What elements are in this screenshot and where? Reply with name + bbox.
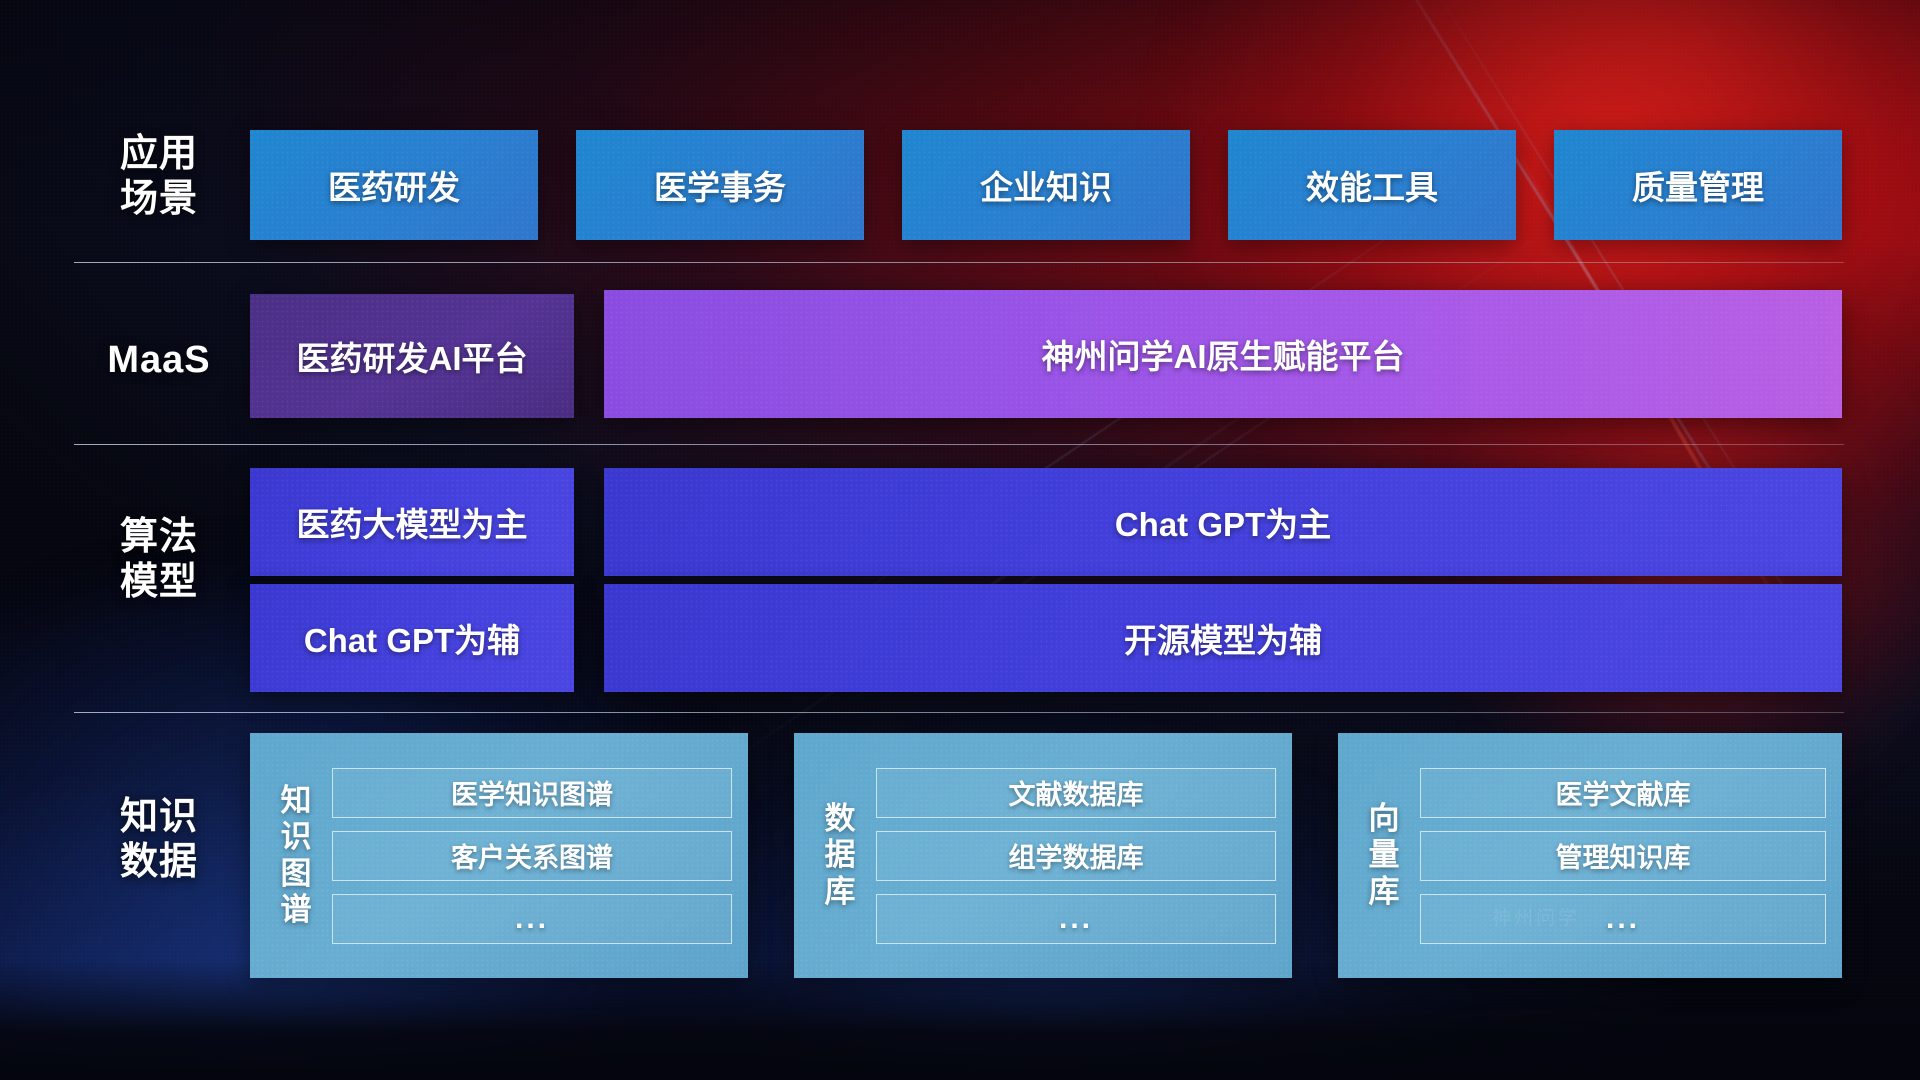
maas-box-medicine-ai-platform[interactable]: 医药研发AI平台	[250, 294, 574, 418]
algo-box-label: 开源模型为辅	[1124, 614, 1322, 662]
tier-label-knowledge-data: 知识 数据	[74, 795, 244, 885]
algo-box-label: 医药大模型为主	[297, 498, 528, 546]
knowledge-item[interactable]: 文献数据库	[876, 768, 1276, 818]
vlabel-char: 向	[1369, 801, 1400, 837]
knowledge-group-vector-store[interactable]: 向 量 库 医学文献库 管理知识库 ...	[1338, 733, 1842, 978]
algo-box-chatgpt-secondary[interactable]: Chat GPT为辅	[250, 584, 574, 692]
tier-label-line: 应用	[74, 132, 244, 177]
app-box-medical-affairs[interactable]: 医学事务	[576, 130, 864, 240]
maas-box-label: 医药研发AI平台	[297, 332, 528, 380]
algo-box-label: Chat GPT为辅	[304, 614, 520, 662]
tier-label-maas: MaaS	[74, 338, 244, 383]
knowledge-group-database[interactable]: 数 据 库 文献数据库 组学数据库 ...	[794, 733, 1292, 978]
knowledge-item[interactable]: 组学数据库	[876, 831, 1276, 881]
knowledge-item[interactable]: 管理知识库	[1420, 831, 1826, 881]
app-box-efficiency-tools[interactable]: 效能工具	[1228, 130, 1516, 240]
tier-label-line: 场景	[74, 177, 244, 222]
app-box-medicine-rd[interactable]: 医药研发	[250, 130, 538, 240]
app-box-label: 质量管理	[1632, 161, 1764, 209]
knowledge-item-more[interactable]: ...	[876, 894, 1276, 944]
tier-label-line: MaaS	[74, 338, 244, 383]
knowledge-group-items: 文献数据库 组学数据库 ...	[876, 747, 1276, 964]
knowledge-group-knowledge-graph[interactable]: 知 识 图 谱 医学知识图谱 客户关系图谱 ...	[250, 733, 748, 978]
maas-box-label: 神州问学AI原生赋能平台	[1042, 330, 1405, 378]
tier-label-application-scenarios: 应用 场景	[74, 132, 244, 222]
knowledge-group-vertical-label: 数 据 库	[804, 747, 876, 964]
algo-box-chatgpt-primary[interactable]: Chat GPT为主	[604, 468, 1842, 576]
knowledge-item[interactable]: 客户关系图谱	[332, 831, 732, 881]
vlabel-char: 据	[825, 837, 856, 873]
architecture-diagram: 应用 场景 医药研发 医学事务 企业知识 效能工具 质量管理 MaaS 医药研发…	[0, 0, 1920, 1080]
algo-box-opensource-secondary[interactable]: 开源模型为辅	[604, 584, 1842, 692]
app-box-label: 医学事务	[654, 161, 786, 209]
knowledge-item[interactable]: 医学文献库	[1420, 768, 1826, 818]
tier-label-algorithm-model: 算法 模型	[74, 515, 244, 605]
algo-box-medicine-llm-primary[interactable]: 医药大模型为主	[250, 468, 574, 576]
divider-after-algorithm	[74, 712, 1844, 713]
knowledge-item-more[interactable]: ...	[1420, 894, 1826, 944]
app-box-label: 企业知识	[980, 161, 1112, 209]
knowledge-group-items: 医学知识图谱 客户关系图谱 ...	[332, 747, 732, 964]
vlabel-char: 库	[825, 874, 856, 910]
knowledge-group-items: 医学文献库 管理知识库 ...	[1420, 747, 1826, 964]
app-box-label: 医药研发	[328, 161, 460, 209]
tier-label-line: 数据	[74, 840, 244, 885]
watermark: 神州问学	[1492, 903, 1580, 930]
divider-after-maas	[74, 444, 1844, 445]
vlabel-char: 谱	[281, 892, 312, 928]
tier-label-line: 算法	[74, 515, 244, 560]
vlabel-char: 识	[281, 819, 312, 855]
vlabel-char: 量	[1369, 837, 1400, 873]
app-box-label: 效能工具	[1306, 161, 1438, 209]
knowledge-item[interactable]: 医学知识图谱	[332, 768, 732, 818]
maas-box-shenzhou-wenxue-platform[interactable]: 神州问学AI原生赋能平台	[604, 290, 1842, 418]
tier-label-line: 知识	[74, 795, 244, 840]
tier-label-line: 模型	[74, 560, 244, 605]
vlabel-char: 数	[825, 801, 856, 837]
knowledge-group-vertical-label: 知 识 图 谱	[260, 747, 332, 964]
knowledge-group-vertical-label: 向 量 库	[1348, 747, 1420, 964]
vlabel-char: 库	[1369, 874, 1400, 910]
vlabel-char: 知	[281, 783, 312, 819]
vlabel-char: 图	[281, 856, 312, 892]
app-box-enterprise-knowledge[interactable]: 企业知识	[902, 130, 1190, 240]
knowledge-item-more[interactable]: ...	[332, 894, 732, 944]
app-box-quality-management[interactable]: 质量管理	[1554, 130, 1842, 240]
algo-box-label: Chat GPT为主	[1115, 498, 1331, 546]
divider-after-application	[74, 262, 1844, 263]
